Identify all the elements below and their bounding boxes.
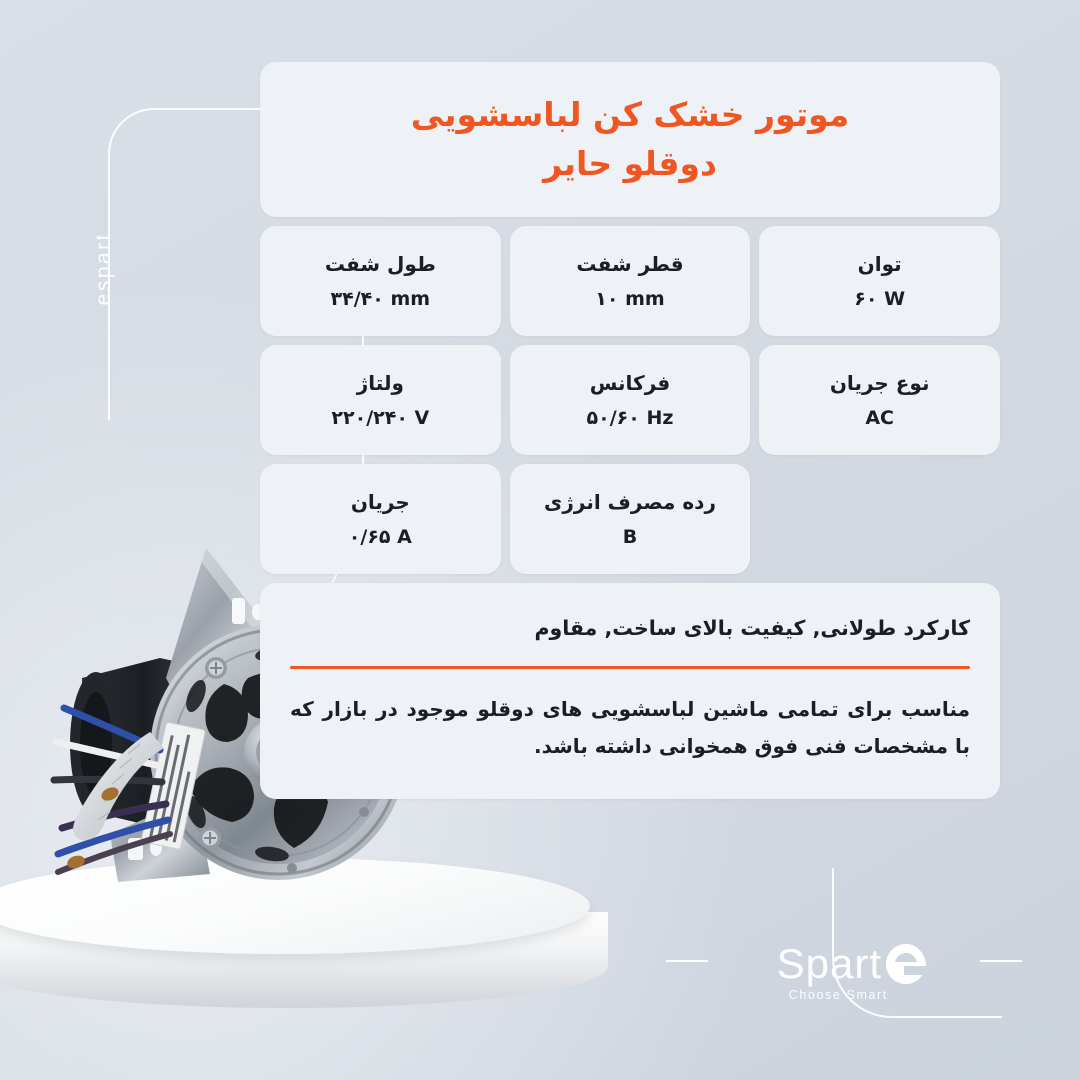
spec-row-3: رده مصرف انرژی B جریان ۰/۶۵ A [260,464,1000,574]
content-column: موتور خشک کن لباسشویی دوقلو حایر توان ۶۰… [260,62,1000,799]
vertical-brand-text: espart [92,232,116,305]
description-divider [290,666,970,669]
spec-value: ۳۴/۴۰ mm [331,288,431,310]
spec-label: قطر شفت [576,252,683,276]
description-card: کارکرد طولانی, کیفیت بالای ساخت, مقاوم م… [260,583,1000,799]
spec-card-frequency: فرکانس ۵۰/۶۰ Hz [510,345,751,455]
description-body: مناسب برای تمامی ماشین لباسشویی های دوقل… [290,691,970,765]
spec-value: AC [865,407,894,429]
page-title-line-2: دوقلو حایر [543,142,717,186]
spec-card-current-type-placeholder-1: توان ۶۰ W [759,226,1000,336]
title-card: موتور خشک کن لباسشویی دوقلو حایر [260,62,1000,217]
spec-card-energy-class: رده مصرف انرژی B [510,464,751,574]
spec-label: فرکانس [590,371,670,395]
spec-label: طول شفت [325,252,436,276]
page-title-line-1: موتور خشک کن لباسشویی [411,93,849,137]
spec-label: رده مصرف انرژی [544,490,716,514]
spec-row-1: توان ۶۰ W قطر شفت ۱۰ mm طول شفت ۳۴/۴۰ mm [260,226,1000,336]
spec-label: جریان [351,490,410,514]
spec-card-voltage: ولتاژ ۲۲۰/۲۴۰ V [260,345,501,455]
logo-rule-right [980,960,1022,962]
spec-card-current-type: نوع جریان AC [759,345,1000,455]
spec-value: B [623,526,637,548]
spec-value: ۶۰ W [854,288,905,310]
logo-e-mark-icon [884,942,928,986]
spec-row-2: نوع جریان AC فرکانس ۵۰/۶۰ Hz ولتاژ ۲۲۰/۲… [260,345,1000,455]
spec-row-3-spacer [759,464,1000,574]
spec-value: ۵۰/۶۰ Hz [587,407,674,429]
logo-wordmark: Spart [777,943,882,985]
spec-value: ۱۰ mm [595,288,664,310]
brand-logo: Spart Choose Smart [777,942,928,1002]
logo-lockup: Spart [777,942,928,986]
spec-label: توان [858,252,902,276]
spec-label: نوع جریان [830,371,930,395]
infographic-background: espart [0,0,1080,1080]
logo-tagline: Choose Smart [789,988,888,1002]
spec-card-current: جریان ۰/۶۵ A [260,464,501,574]
spec-value: ۰/۶۵ A [349,526,412,548]
spec-label: ولتاژ [357,371,404,395]
spec-value: ۲۲۰/۲۴۰ V [331,407,429,429]
spec-card-shaft-diameter: قطر شفت ۱۰ mm [510,226,751,336]
spec-card-shaft-length: طول شفت ۳۴/۴۰ mm [260,226,501,336]
description-headline: کارکرد طولانی, کیفیت بالای ساخت, مقاوم [290,613,970,644]
logo-rule-left [666,960,708,962]
